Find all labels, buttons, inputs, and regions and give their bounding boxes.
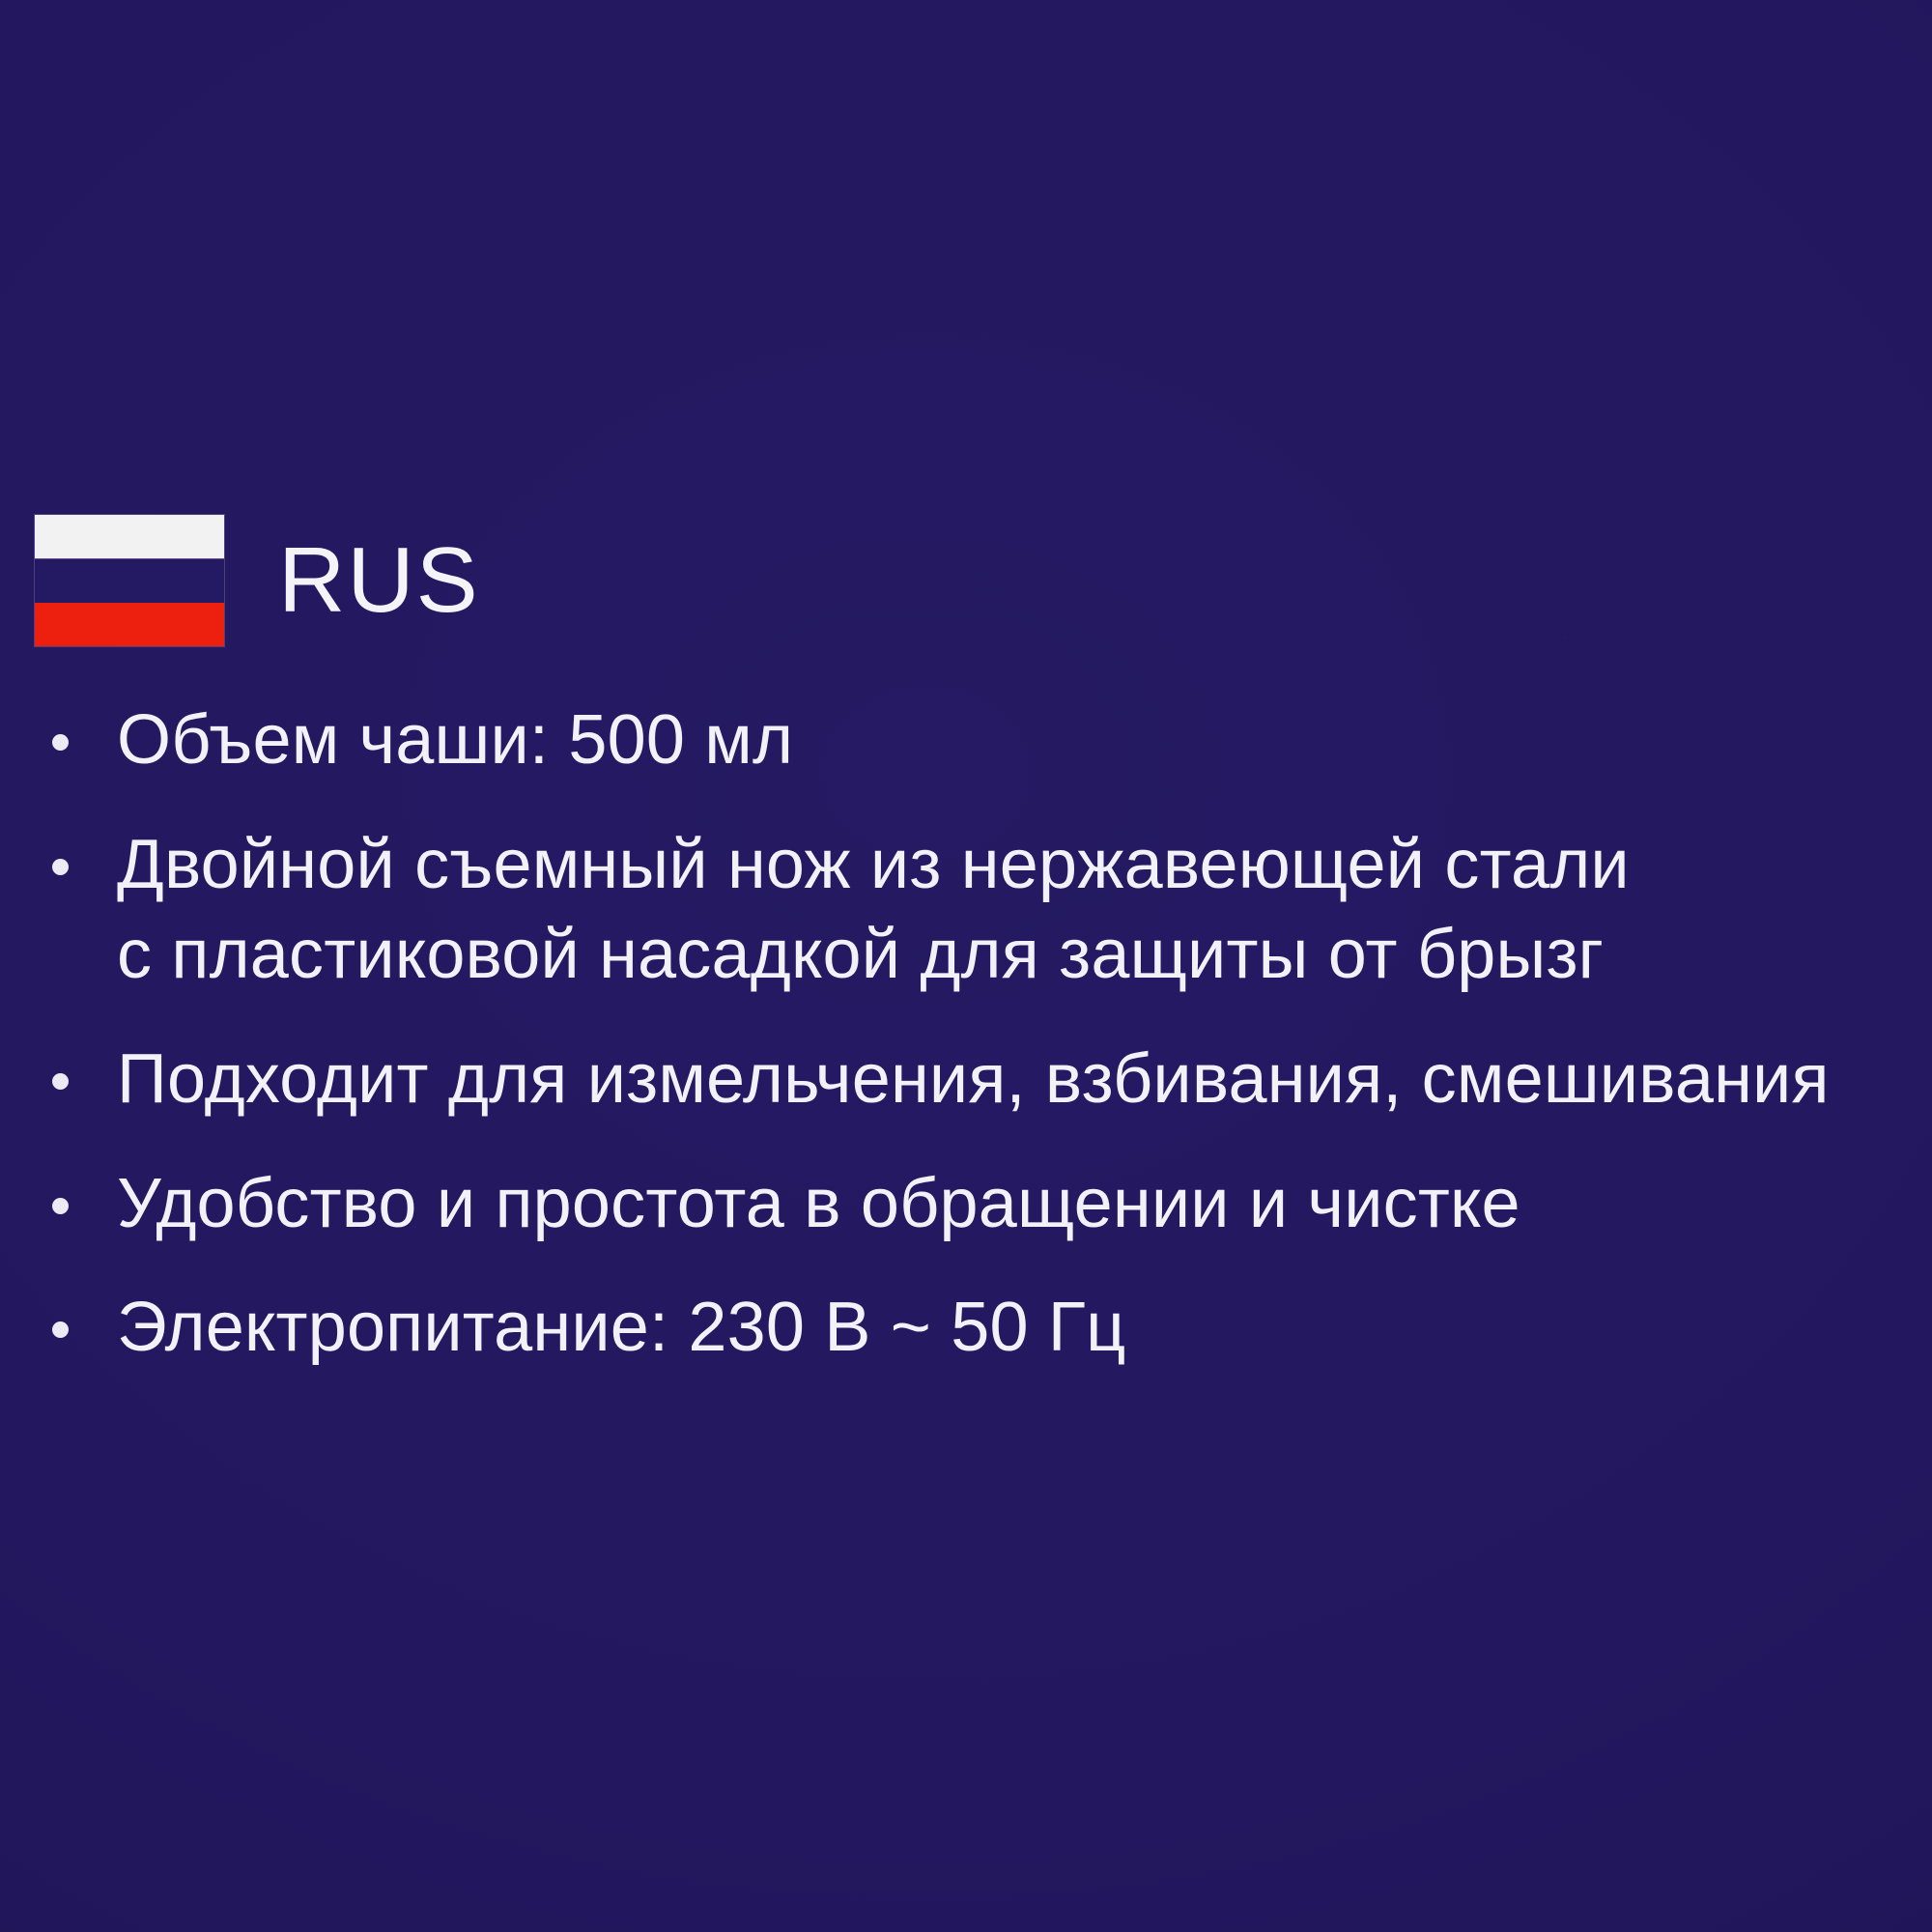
language-code-label: RUS: [278, 534, 480, 627]
flag-white-stripe: [35, 515, 224, 558]
specification-list: Объем чаши: 500 мл Двойной съемный нож и…: [35, 696, 1899, 1407]
language-header: RUS: [35, 515, 480, 646]
flag-blue-stripe: [35, 558, 224, 602]
list-item: Двойной съемный нож из нержавеющей стали…: [35, 820, 1899, 1000]
list-item: Электропитание: 230 В ~ 50 Гц: [35, 1283, 1899, 1373]
russia-flag-icon: [35, 515, 224, 646]
flag-red-stripe: [35, 603, 224, 646]
list-item: Объем чаши: 500 мл: [35, 696, 1899, 785]
list-item: Подходит для измельчения, взбивания, сме…: [35, 1035, 1899, 1124]
list-item: Удобство и простота в обращении и чистке: [35, 1159, 1899, 1249]
product-packaging-panel: RUS Объем чаши: 500 мл Двойной съемный н…: [0, 0, 1932, 1932]
